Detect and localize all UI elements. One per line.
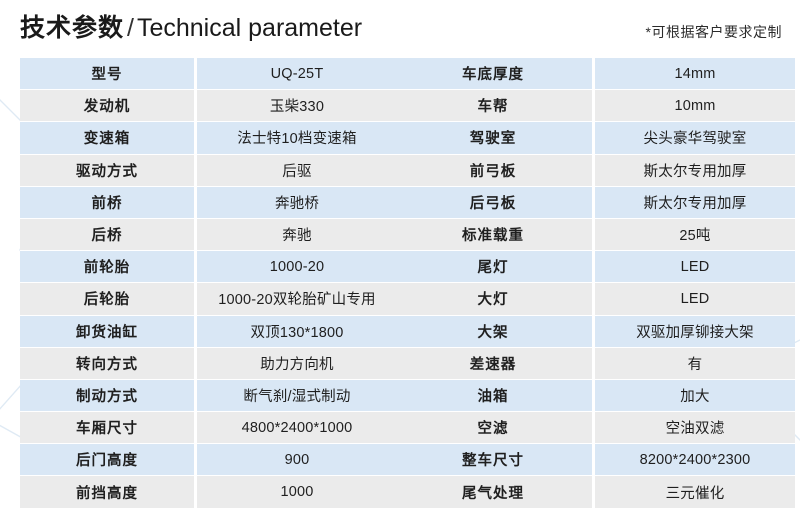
spec-value: 有	[595, 348, 795, 380]
spec-row: 后门高度900	[20, 444, 397, 476]
spec-value: 三元催化	[595, 476, 795, 508]
spec-label: 变速箱	[20, 122, 197, 154]
spec-value: 900	[197, 444, 397, 476]
spec-label: 后门高度	[20, 444, 197, 476]
spec-row: 型号UQ-25T	[20, 58, 397, 90]
page-title: 技术参数/Technical parameter	[20, 12, 362, 44]
spec-label: 后轮胎	[20, 283, 197, 315]
spec-label: 车帮	[394, 90, 595, 122]
page-header: 技术参数/Technical parameter *可根据客户要求定制	[0, 0, 800, 56]
spec-label: 差速器	[394, 348, 595, 380]
spec-value: 双顶130*1800	[197, 316, 397, 348]
spec-label: 油箱	[394, 380, 595, 412]
spec-label: 车底厚度	[394, 58, 595, 90]
spec-value: 1000-20	[197, 251, 397, 283]
spec-row: 驱动方式后驱	[20, 155, 397, 187]
spec-label: 驾驶室	[394, 122, 595, 154]
spec-row: 前轮胎1000-20	[20, 251, 397, 283]
spec-label: 前弓板	[394, 155, 595, 187]
spec-value: 1000	[197, 476, 397, 508]
spec-row: 尾气处理三元催化	[394, 476, 795, 508]
spec-label: 标准载重	[394, 219, 595, 251]
spec-row: 车帮10mm	[394, 90, 795, 122]
spec-row: 尾灯LED	[394, 251, 795, 283]
spec-row: 发动机玉柴330	[20, 90, 397, 122]
spec-value: 加大	[595, 380, 795, 412]
spec-row: 整车尺寸8200*2400*2300	[394, 444, 795, 476]
spec-value: 斯太尔专用加厚	[595, 155, 795, 187]
spec-value: 法士特10档变速箱	[197, 122, 397, 154]
spec-label: 型号	[20, 58, 197, 90]
spec-value: 玉柴330	[197, 90, 397, 122]
spec-value: 助力方向机	[197, 348, 397, 380]
spec-label: 前挡高度	[20, 476, 197, 508]
spec-label: 卸货油缸	[20, 316, 197, 348]
spec-row: 变速箱法士特10档变速箱	[20, 122, 397, 154]
spec-row: 标准载重25吨	[394, 219, 795, 251]
spec-row: 后弓板斯太尔专用加厚	[394, 187, 795, 219]
spec-label: 尾灯	[394, 251, 595, 283]
customization-note: *可根据客户要求定制	[646, 22, 782, 42]
page-title-en: Technical parameter	[137, 14, 362, 42]
spec-row: 卸货油缸双顶130*1800	[20, 316, 397, 348]
spec-value: LED	[595, 251, 795, 283]
spec-table-left-body: 型号UQ-25T发动机玉柴330变速箱法士特10档变速箱驱动方式后驱前桥奔驰桥后…	[20, 58, 397, 509]
spec-row: 大灯LED	[394, 283, 795, 315]
spec-row: 空滤空油双滤	[394, 412, 795, 444]
spec-value: 14mm	[595, 58, 795, 90]
spec-label: 尾气处理	[394, 476, 595, 508]
spec-row: 前桥奔驰桥	[20, 187, 397, 219]
spec-row: 车底厚度14mm	[394, 58, 795, 90]
spec-label: 后弓板	[394, 187, 595, 219]
spec-row: 制动方式断气刹/湿式制动	[20, 380, 397, 412]
spec-value: 双驱加厚铆接大架	[595, 316, 795, 348]
spec-row: 转向方式助力方向机	[20, 348, 397, 380]
spec-value: 8200*2400*2300	[595, 444, 795, 476]
page-title-separator: /	[124, 14, 137, 42]
spec-label: 驱动方式	[20, 155, 197, 187]
spec-row: 后桥奔驰	[20, 219, 397, 251]
spec-label: 前轮胎	[20, 251, 197, 283]
spec-value: 1000-20双轮胎矿山专用	[197, 283, 397, 315]
spec-row: 后轮胎1000-20双轮胎矿山专用	[20, 283, 397, 315]
spec-label: 转向方式	[20, 348, 197, 380]
spec-label: 制动方式	[20, 380, 197, 412]
spec-table-left: 型号UQ-25T发动机玉柴330变速箱法士特10档变速箱驱动方式后驱前桥奔驰桥后…	[20, 58, 397, 509]
spec-label: 车厢尺寸	[20, 412, 197, 444]
spec-row: 油箱加大	[394, 380, 795, 412]
spec-sheet-page: 技术参数/Technical parameter *可根据客户要求定制 型号UQ…	[0, 0, 800, 520]
spec-label: 后桥	[20, 219, 197, 251]
spec-value: UQ-25T	[197, 58, 397, 90]
spec-value: 断气刹/湿式制动	[197, 380, 397, 412]
spec-label: 发动机	[20, 90, 197, 122]
spec-value: 尖头豪华驾驶室	[595, 122, 795, 154]
spec-label: 大灯	[394, 283, 595, 315]
spec-label: 整车尺寸	[394, 444, 595, 476]
spec-value: LED	[595, 283, 795, 315]
spec-value: 后驱	[197, 155, 397, 187]
spec-row: 差速器有	[394, 348, 795, 380]
spec-row: 车厢尺寸4800*2400*1000	[20, 412, 397, 444]
spec-label: 前桥	[20, 187, 197, 219]
spec-value: 空油双滤	[595, 412, 795, 444]
spec-table-right: 车底厚度14mm车帮10mm驾驶室尖头豪华驾驶室前弓板斯太尔专用加厚后弓板斯太尔…	[394, 58, 795, 509]
spec-value: 10mm	[595, 90, 795, 122]
spec-row: 驾驶室尖头豪华驾驶室	[394, 122, 795, 154]
spec-value: 25吨	[595, 219, 795, 251]
spec-value: 斯太尔专用加厚	[595, 187, 795, 219]
spec-value: 奔驰桥	[197, 187, 397, 219]
spec-value: 奔驰	[197, 219, 397, 251]
spec-value: 4800*2400*1000	[197, 412, 397, 444]
spec-row: 前弓板斯太尔专用加厚	[394, 155, 795, 187]
page-title-cn: 技术参数	[20, 14, 124, 42]
spec-label: 空滤	[394, 412, 595, 444]
spec-row: 大架双驱加厚铆接大架	[394, 316, 795, 348]
spec-table-right-body: 车底厚度14mm车帮10mm驾驶室尖头豪华驾驶室前弓板斯太尔专用加厚后弓板斯太尔…	[394, 58, 795, 509]
spec-row: 前挡高度1000	[20, 476, 397, 508]
spec-label: 大架	[394, 316, 595, 348]
